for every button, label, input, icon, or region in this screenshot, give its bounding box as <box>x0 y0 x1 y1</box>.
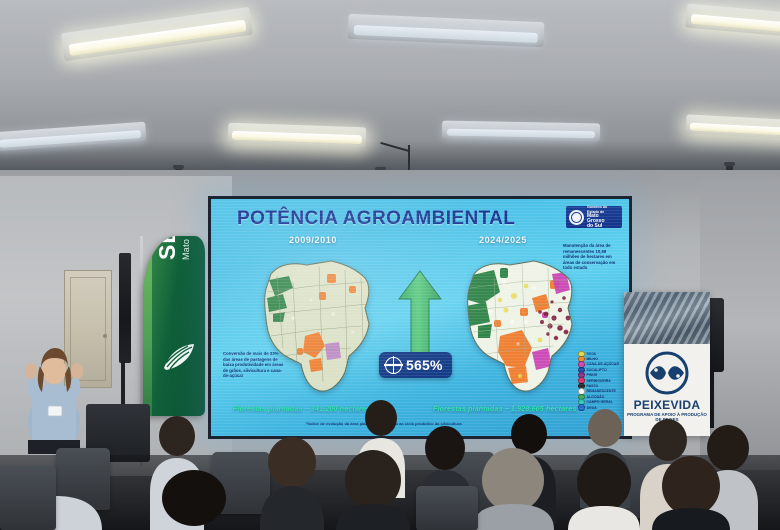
peixevida-photo <box>624 292 710 344</box>
legend-label: EUCALIPTO <box>587 368 607 372</box>
pa-speaker <box>119 253 131 363</box>
audience-member <box>258 436 326 530</box>
chair[interactable] <box>0 466 56 530</box>
slide: POTÊNCIA AGROAMBIENTAL Governo do Estado… <box>211 199 629 436</box>
fish-logo-icon <box>644 350 690 396</box>
legend-label: ALGODÃO <box>587 395 605 399</box>
senar-banner: SENAR Mato Grosso do Sul <box>143 236 205 416</box>
projection-screen: POTÊNCIA AGROAMBIENTAL Governo do Estado… <box>208 196 632 439</box>
government-logo: Governo do Estado de Mato Grosso do Sul <box>566 206 622 228</box>
year-label-right: 2024/2025 <box>479 235 527 245</box>
note-right: Manutenção da área de remanescentes 10,5… <box>563 243 623 271</box>
peixevida-banner: PEIXEVIDA PROGRAMA DE APOIO À PRODUÇÃO D… <box>624 292 710 436</box>
legend-label: CAMPO GERAL <box>587 400 613 404</box>
legend-label: MILHO <box>587 357 598 361</box>
caption-left: Florestas plantadas – 341.200 hectares <box>233 406 370 413</box>
year-label-left: 2009/2010 <box>289 235 337 245</box>
audience-member <box>566 452 642 530</box>
senar-leaf-icon <box>162 342 196 372</box>
audience-member <box>470 448 556 530</box>
legend-label: PINUS <box>587 373 598 377</box>
legend-label: CANA-DE-AÇÚCAR <box>587 362 619 366</box>
slide-title: POTÊNCIA AGROAMBIENTAL <box>237 208 515 230</box>
ceiling-light <box>442 121 600 142</box>
legend-label: SOJA <box>587 352 597 356</box>
audience-member <box>150 470 238 530</box>
growth-arrow-icon <box>397 269 443 365</box>
conference-room-photo: SENAR Mato Grosso do Sul POTÊNCIA AGROAM… <box>0 0 780 530</box>
map-2009-2010 <box>253 252 387 402</box>
audience-member <box>334 450 412 530</box>
presenter <box>14 344 92 454</box>
legend-label: SERINGUEIRA <box>587 379 611 383</box>
government-logo-text: Governo do Estado de Mato Grosso do Sul <box>587 205 619 229</box>
growth-badge: 565% <box>379 352 452 378</box>
note-left: Conversão de mais de 33% das áreas de pa… <box>223 351 285 379</box>
senar-banner-text: SENAR Mato Grosso do Sul <box>154 236 191 260</box>
senar-name: SENAR <box>154 236 181 260</box>
map-2024-2025 <box>456 252 590 402</box>
audience-member <box>650 456 732 530</box>
peixevida-name: PEIXEVIDA <box>624 398 710 412</box>
senar-subtitle: Mato Grosso do Sul <box>181 236 191 260</box>
legend-label: REMANESCENTE <box>587 389 616 393</box>
growth-percent: 565% <box>406 357 443 373</box>
state-seal-icon <box>569 210 584 225</box>
map-legend: SOJAMILHOCANA-DE-AÇÚCAREUCALIPTOPINUSSER… <box>578 351 619 410</box>
legend-label: PASTO <box>587 384 599 388</box>
chair[interactable] <box>416 486 478 530</box>
globe-icon <box>385 357 402 374</box>
door-knob[interactable] <box>103 334 107 338</box>
